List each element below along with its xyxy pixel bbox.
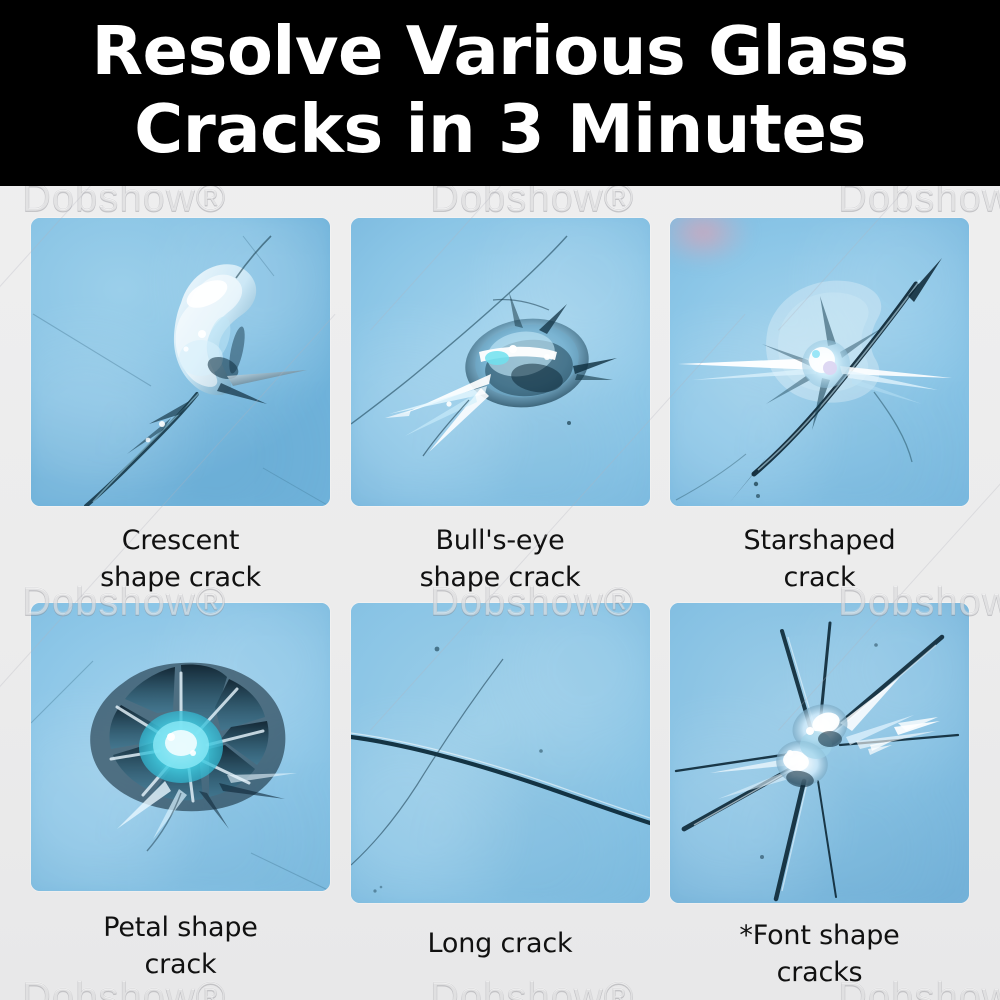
caption-starshaped: Starshaped crack [744,522,896,596]
star-crack-image [670,218,969,506]
caption-crescent: Crescent shape crack [100,522,261,596]
grid-cell-starshaped[interactable]: Starshaped crack [670,218,969,596]
caption-petal: Petal shape crack [103,909,257,983]
caption-bullseye: Bull's-eye shape crack [420,522,581,596]
infographic-page: Dobshow® Dobshow® Dobshow® Dobshow® Dobs… [0,0,1000,1000]
font-crack-image [670,603,969,903]
grid-row-2: Petal shape crack [0,603,1000,991]
long-crack-image [351,603,650,903]
page-title: Resolve Various Glass Cracks in 3 Minute… [0,12,1000,168]
crescent-crack-image [31,218,330,506]
grid-cell-bullseye[interactable]: Bull's-eye shape crack [351,218,650,596]
caption-long: Long crack [428,925,573,962]
grid-cell-crescent[interactable]: Crescent shape crack [31,218,330,596]
grid-cell-petal[interactable]: Petal shape crack [31,603,330,991]
caption-font: *Font shape cracks [739,917,899,991]
crack-type-grid: Crescent shape crack [0,186,1000,1000]
header-banner: Resolve Various Glass Cracks in 3 Minute… [0,0,1000,186]
title-line-1: Resolve Various Glass [0,12,1000,90]
bullseye-crack-image [351,218,650,506]
grid-row-1: Crescent shape crack [0,218,1000,596]
grid-cell-font[interactable]: *Font shape cracks [670,603,969,991]
petal-crack-image [31,603,330,891]
grid-cell-long[interactable]: Long crack [351,603,650,991]
title-line-2: Cracks in 3 Minutes [0,90,1000,168]
